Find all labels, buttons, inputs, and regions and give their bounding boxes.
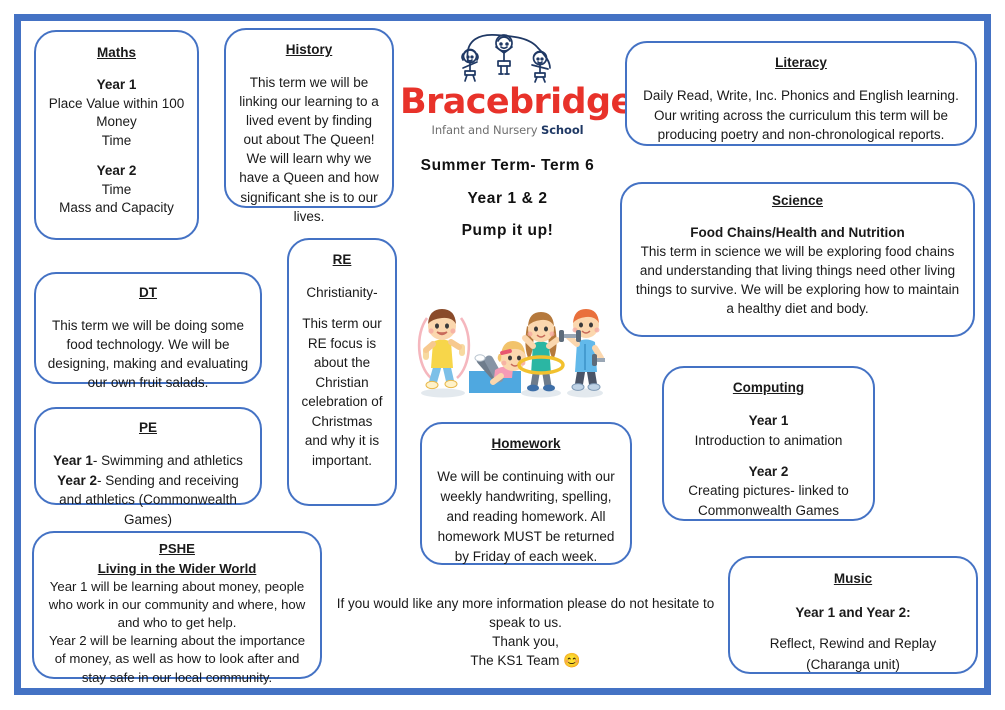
card-computing-year1-body: Introduction to animation [674,431,863,451]
closing-text: If you would like any more information p… [337,596,714,668]
card-science-body: This term in science we will be explorin… [632,243,963,319]
spacer [740,623,966,634]
card-computing-title: Computing [674,378,863,398]
title-line-year: Year 1 & 2 [385,191,630,207]
logo-tagline-school: School [541,123,583,137]
card-maths-year2-label: Year 2 [97,163,137,178]
title-line-term: Summer Term- Term 6 [385,158,630,174]
card-history: History This term we will be linking our… [224,28,394,208]
card-maths-year1-body: Place Value within 100 Money Time [46,95,187,151]
card-dt-title: DT [46,283,250,302]
page-title: Summer Term- Term 6 Year 1 & 2 Pump it u… [385,158,630,256]
card-science-subtitle: Food Chains/Health and Nutrition [690,225,905,240]
spacer [674,450,863,461]
card-music-years-label: Year 1 and Year 2: [795,605,910,620]
card-pe-year2-row: Year 2- Sending and receiving and athlet… [46,471,250,530]
card-pshe-subtitle: Living in the Wider World [44,560,310,578]
card-re: RE Christianity- This term our RE focus … [287,238,397,506]
spacer [432,456,620,467]
card-pe: PE Year 1- Swimming and athletics Year 2… [34,407,262,505]
card-homework-title: Homework [432,434,620,454]
children-exercising-illustration [413,296,605,401]
school-logo: Bracebridge Infant and Nursery School [400,32,615,137]
card-dt-body: This term we will be doing some food tec… [46,316,250,393]
card-pe-year1-body: - Swimming and athletics [93,453,243,468]
card-science-title: Science [632,192,963,211]
card-pe-title: PE [46,418,250,438]
card-music-body: Reflect, Rewind and Replay (Charanga uni… [740,634,966,675]
title-line-topic: Pump it up! [385,223,630,239]
card-re-body: This term our RE focus is about the Chri… [299,314,385,471]
card-maths: Maths Year 1 Place Value within 100 Mone… [34,30,199,240]
spacer [299,303,385,314]
skipping-children-icon [434,32,582,84]
card-pe-year1-label: Year 1 [53,453,93,468]
spacer [46,151,187,162]
card-dt: DT This term we will be doing some food … [34,272,262,384]
smiley-face-icon: 😊 [563,652,580,668]
card-computing-year2-label: Year 2 [749,464,789,479]
card-science: Science Food Chains/Health and Nutrition… [620,182,975,337]
card-computing-year1-label: Year 1 [749,413,789,428]
card-pshe-title: PSHE [44,540,310,558]
card-history-body: This term we will be linking our learnin… [236,73,382,226]
card-literacy-title: Literacy [637,53,965,73]
card-music-title: Music [740,569,966,589]
card-re-subtitle: Christianity- [299,283,385,303]
spacer [740,591,966,602]
spacer [299,272,385,283]
card-maths-year1-label: Year 1 [97,77,137,92]
card-music: Music Year 1 and Year 2: Reflect, Rewind… [728,556,978,674]
card-homework-body: We will be continuing with our weekly ha… [432,467,620,566]
spacer [46,304,250,315]
card-literacy: Literacy Daily Read, Write, Inc. Phonics… [625,41,977,146]
spacer [632,213,963,224]
card-re-title: RE [299,250,385,270]
spacer [674,400,863,411]
card-computing-year2-body: Creating pictures- linked to Commonwealt… [674,481,863,520]
card-computing: Computing Year 1 Introduction to animati… [662,366,875,521]
logo-tagline: Infant and Nursery School [400,123,615,137]
card-pe-year2-label: Year 2 [57,473,97,488]
spacer [637,75,965,86]
card-maths-title: Maths [46,44,187,63]
curriculum-newsletter-page: Maths Year 1 Place Value within 100 Mone… [0,0,1005,710]
card-literacy-body: Daily Read, Write, Inc. Phonics and Engl… [637,86,965,145]
card-homework: Homework We will be continuing with our … [420,422,632,565]
closing-message: If you would like any more information p… [333,594,718,671]
logo-wordmark: Bracebridge [400,85,615,120]
logo-tagline-prefix: Infant and Nursery [432,123,542,137]
card-maths-year2-body: Time Mass and Capacity [46,181,187,218]
card-history-title: History [236,40,382,59]
card-pshe-body: Year 1 will be learning about money, peo… [44,578,310,686]
card-pe-year1-row: Year 1- Swimming and athletics [46,451,250,471]
spacer [236,61,382,72]
spacer [46,65,187,76]
card-pshe: PSHE Living in the Wider World Year 1 wi… [32,531,322,679]
spacer [46,440,250,451]
